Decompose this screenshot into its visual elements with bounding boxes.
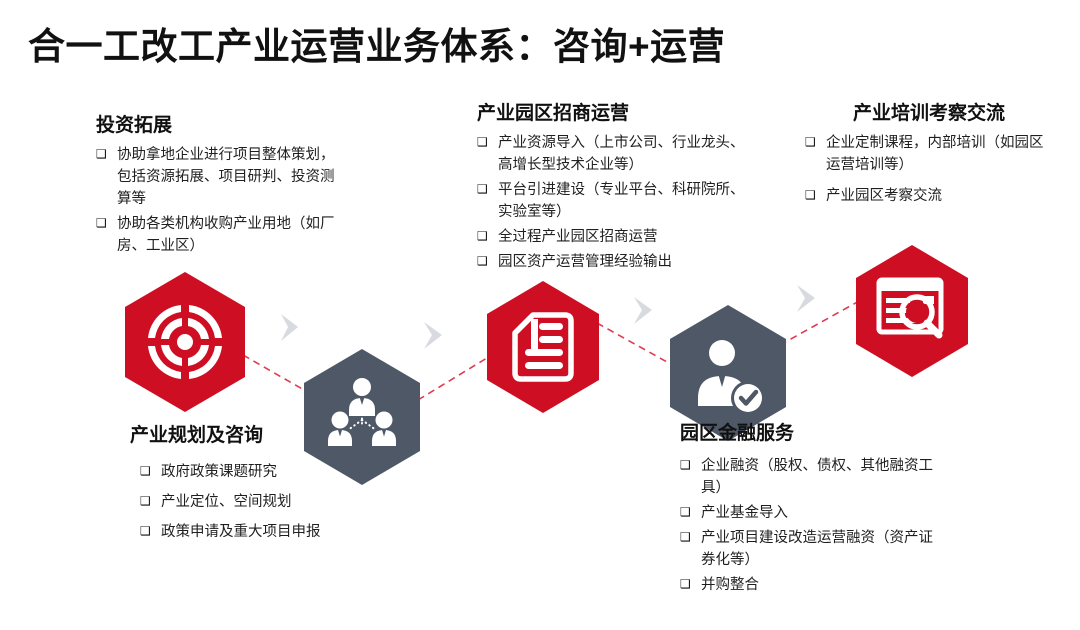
block-title: 产业培训考察交流	[805, 98, 1053, 125]
list-item: ❑ 产业园区考察交流	[805, 185, 1053, 207]
bullet-text: 产业定位、空间规划	[161, 491, 420, 513]
bullet-text: 协助各类机构收购产业用地（如厂房、工业区）	[117, 213, 346, 257]
bullet-list: ❑ 企业定制课程，内部培训（如园区运营培训等） ❑ 产业园区考察交流	[805, 132, 1053, 207]
bullet-list: ❑ 企业融资（股权、债权、其他融资工具） ❑ 产业基金导入 ❑ 产业项目建设改造…	[680, 455, 942, 596]
block-title: 产业规划及咨询	[130, 420, 420, 447]
list-item: ❑ 产业基金导入	[680, 502, 942, 524]
connector-group	[243, 295, 870, 402]
bullet-list: ❑ 产业资源导入（上市公司、行业龙头、高增长型技术企业等） ❑ 平台引进建设（专…	[477, 132, 745, 273]
bullet-marker: ❑	[680, 502, 696, 523]
node-document-report[interactable]	[487, 281, 599, 413]
bullet-text: 政府政策课题研究	[161, 461, 420, 483]
list-item: ❑ 平台引进建设（专业平台、科研院所、实验室等）	[477, 179, 745, 223]
bullet-text: 平台引进建设（专业平台、科研院所、实验室等）	[498, 179, 745, 223]
bullet-text: 园区资产运营管理经验输出	[498, 251, 745, 273]
list-item: ❑ 政府政策课题研究	[140, 461, 420, 483]
bullet-marker: ❑	[477, 179, 493, 200]
bullet-text: 企业定制课程，内部培训（如园区运营培训等）	[826, 132, 1053, 176]
block-title: 产业园区招商运营	[477, 98, 745, 125]
list-item: ❑ 产业资源导入（上市公司、行业龙头、高增长型技术企业等）	[477, 132, 745, 176]
bullet-text: 产业资源导入（上市公司、行业龙头、高增长型技术企业等）	[498, 132, 745, 176]
bullet-marker: ❑	[680, 527, 696, 548]
list-item: ❑ 协助拿地企业进行项目整体策划，包括资源拓展、项目研判、投资测算等	[96, 144, 346, 210]
target-icon	[148, 305, 222, 379]
list-item: ❑ 企业融资（股权、债权、其他融资工具）	[680, 455, 942, 499]
bullet-marker: ❑	[477, 226, 493, 247]
block-training-visit-exchange: 产业培训考察交流 ❑ 企业定制课程，内部培训（如园区运营培训等） ❑ 产业园区考…	[805, 98, 1053, 210]
list-item: ❑ 产业项目建设改造运营融资（资产证券化等）	[680, 527, 942, 571]
block-title: 园区金融服务	[680, 418, 942, 445]
bullet-marker: ❑	[680, 455, 696, 476]
document-search-icon	[879, 280, 941, 335]
bullet-text: 产业基金导入	[701, 502, 942, 524]
block-park-investment-operation: 产业园区招商运营 ❑ 产业资源导入（上市公司、行业龙头、高增长型技术企业等） ❑…	[477, 98, 745, 276]
bullet-marker: ❑	[140, 461, 156, 482]
list-item: ❑ 并购整合	[680, 574, 942, 596]
block-park-financial-services: 园区金融服务 ❑ 企业融资（股权、债权、其他融资工具） ❑ 产业基金导入 ❑ 产…	[680, 418, 942, 599]
block-investment-expansion: 投资拓展 ❑ 协助拿地企业进行项目整体策划，包括资源拓展、项目研判、投资测算等 …	[96, 110, 346, 260]
list-item: ❑ 全过程产业园区招商运营	[477, 226, 745, 248]
list-item: ❑ 协助各类机构收购产业用地（如厂房、工业区）	[96, 213, 346, 257]
bullet-marker: ❑	[140, 521, 156, 542]
bullet-marker: ❑	[140, 491, 156, 512]
block-industry-planning-consulting: 产业规划及咨询 ❑ 政府政策课题研究 ❑ 产业定位、空间规划 ❑ 政策申请及重大…	[130, 420, 420, 546]
bullet-list: ❑ 政府政策课题研究 ❑ 产业定位、空间规划 ❑ 政策申请及重大项目申报	[130, 461, 420, 543]
hexagon-shape	[856, 245, 968, 377]
bullet-text: 产业园区考察交流	[826, 185, 1053, 207]
hexagon-shape	[487, 281, 599, 413]
chevron-3-icon	[634, 297, 652, 324]
bullet-text: 产业项目建设改造运营融资（资产证券化等）	[701, 527, 942, 571]
document-report-icon	[515, 315, 571, 379]
bullet-marker: ❑	[96, 144, 112, 165]
page-title: 合一工改工产业运营业务体系：咨询+运营	[28, 16, 725, 70]
bullet-marker: ❑	[96, 213, 112, 234]
bullet-marker: ❑	[805, 132, 821, 153]
bullet-text: 政策申请及重大项目申报	[161, 521, 420, 543]
connector-node3-node4	[597, 323, 685, 372]
bullet-marker: ❑	[805, 185, 821, 206]
chevron-4-icon	[797, 285, 815, 312]
businessman-check-icon	[698, 340, 765, 415]
bullet-marker: ❑	[477, 251, 493, 272]
list-item: ❑ 企业定制课程，内部培训（如园区运营培训等）	[805, 132, 1053, 176]
connector-node4-node5	[780, 295, 870, 345]
bullet-text: 并购整合	[701, 574, 942, 596]
hexagon-shape	[125, 272, 245, 412]
list-item: ❑ 产业定位、空间规划	[140, 491, 420, 513]
bullet-text: 全过程产业园区招商运营	[498, 226, 745, 248]
chevron-group	[281, 285, 815, 349]
chevron-2-icon	[424, 322, 442, 349]
list-item: ❑ 政策申请及重大项目申报	[140, 521, 420, 543]
connector-node2-node3	[418, 350, 500, 400]
block-title: 投资拓展	[96, 110, 346, 137]
node-document-search[interactable]	[856, 245, 968, 377]
chevron-1-icon	[281, 314, 298, 341]
connector-node1-node2	[243, 355, 325, 402]
bullet-text: 企业融资（股权、债权、其他融资工具）	[701, 455, 942, 499]
bullet-list: ❑ 协助拿地企业进行项目整体策划，包括资源拓展、项目研判、投资测算等 ❑ 协助各…	[96, 144, 346, 257]
node-target[interactable]	[125, 272, 245, 412]
bullet-marker: ❑	[477, 132, 493, 153]
list-item: ❑ 园区资产运营管理经验输出	[477, 251, 745, 273]
bullet-text: 协助拿地企业进行项目整体策划，包括资源拓展、项目研判、投资测算等	[117, 144, 346, 210]
bullet-marker: ❑	[680, 574, 696, 595]
